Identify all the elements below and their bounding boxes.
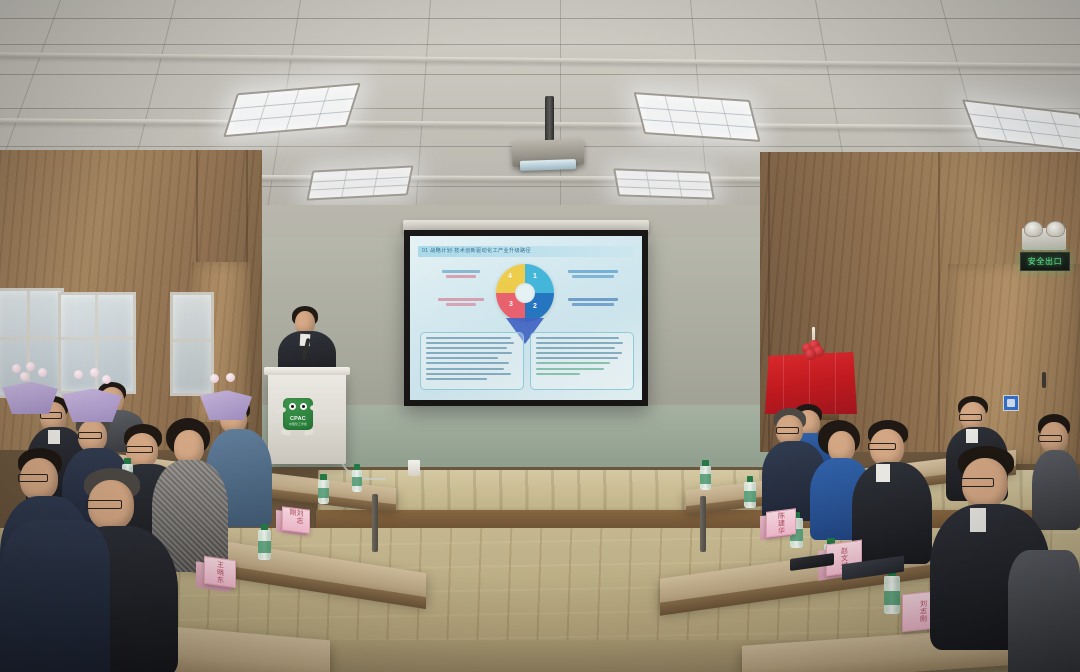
water-bottle[interactable] (700, 460, 711, 490)
table-leg (700, 496, 706, 552)
water-bottle[interactable] (744, 476, 756, 508)
wheel-center-hole (515, 283, 535, 303)
placard-name: 王晓东 (217, 560, 224, 583)
water-bottle[interactable] (318, 474, 329, 504)
name-placard: 王晓东 (204, 556, 236, 588)
ceiling-light (634, 92, 761, 142)
paper-cup[interactable] (408, 460, 420, 476)
flower-bouquet (62, 368, 122, 422)
wheel-label-1 (562, 270, 624, 278)
podium-top (264, 367, 350, 375)
wheel-number-2: 2 (533, 303, 537, 310)
wheel-number-3: 3 (509, 301, 513, 308)
flower-bouquet (200, 372, 252, 420)
attendee-left-8 (0, 520, 110, 672)
emergency-light (1022, 228, 1066, 250)
ceiling-light (306, 165, 413, 200)
table-leg (372, 494, 378, 552)
door-handle[interactable] (1042, 372, 1046, 388)
projector-mount (545, 96, 554, 144)
ceiling-light (613, 168, 715, 199)
attendee-right-7 (1008, 550, 1080, 672)
name-placard: 刘志刚 (282, 506, 310, 533)
wheel-number-1: 1 (533, 273, 537, 280)
name-placard: 陈建华 (766, 508, 796, 538)
wheel-label-3 (432, 298, 490, 306)
water-bottle[interactable] (884, 570, 900, 614)
wheel-label-4 (434, 270, 488, 278)
wheel-number-4: 4 (508, 273, 512, 280)
exit-sign: 安全出口 (1020, 252, 1070, 271)
presentation-slide: 01 战略计划·技术创新驱动化工产业升级路径 1 2 3 4 (410, 236, 642, 400)
plaque-ribbon-flower (802, 340, 824, 360)
mascot-subtitle: 中国化工学会 (285, 422, 311, 426)
flower-bouquet (2, 362, 58, 414)
placard-name: 刘志刚 (289, 508, 303, 532)
attendee-right-3 (852, 420, 932, 560)
cpac-mascot-logo: CPAC 中国化工学会 (277, 392, 319, 440)
exit-sign-label: 安全出口 (1028, 256, 1062, 267)
slide-title: 01 战略计划·技术创新驱动化工产业升级路径 (422, 246, 632, 257)
projector-lens (520, 159, 576, 171)
water-bottle[interactable] (258, 524, 271, 560)
photo-scene: 安全出口 01 战略计划·技术创新驱动化工产业升级路径 1 2 3 (0, 0, 1080, 672)
placard-name: 刘志刚 (920, 599, 927, 622)
wheel-label-2 (562, 298, 624, 306)
slide-textbox-1 (420, 332, 524, 390)
water-bottle[interactable] (352, 464, 362, 492)
slide-textbox-2 (530, 332, 634, 390)
placard-name: 陈建华 (778, 511, 785, 534)
